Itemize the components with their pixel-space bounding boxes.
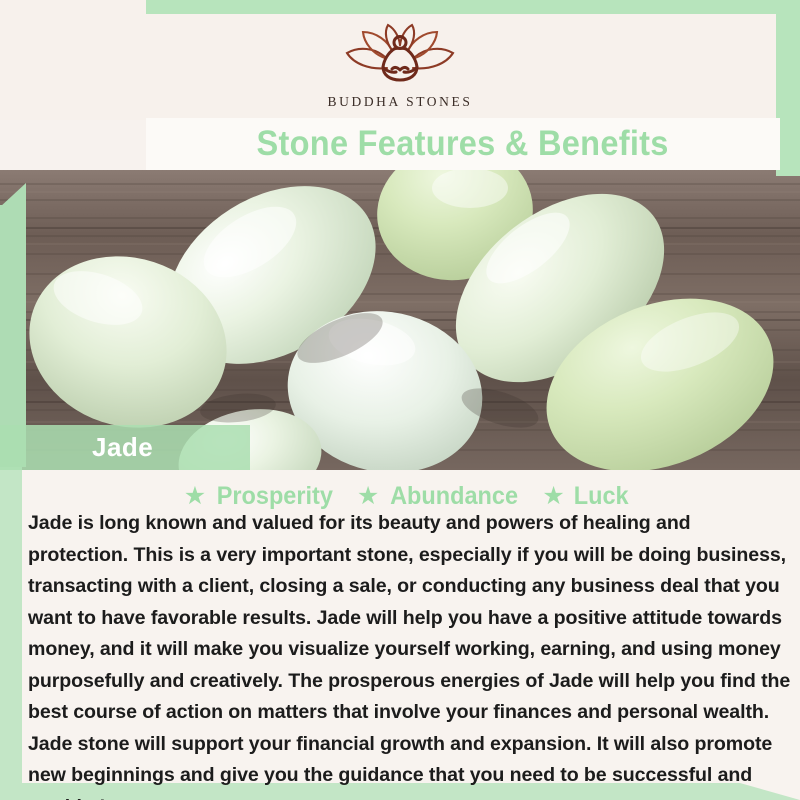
section-title-band: Stone Features & Benefits <box>146 118 780 170</box>
stone-name: Jade <box>92 432 153 463</box>
benefit-item-luck: ★ Luck <box>542 482 630 511</box>
page-title: Stone Features & Benefits <box>257 124 669 164</box>
benefit-label: Prosperity <box>217 482 333 511</box>
stone-name-band: Jade <box>0 425 250 470</box>
lotus-meditation-icon <box>340 22 460 89</box>
frame-left-lower-bar <box>0 467 22 785</box>
infographic-card: BUDDHA STONES Stone Features & Benefits <box>0 0 800 800</box>
benefit-item-prosperity: ★ Prosperity <box>184 482 337 511</box>
star-icon: ★ <box>542 484 564 509</box>
frame-top-bar <box>146 0 800 14</box>
brand-logo: BUDDHA STONES <box>328 22 473 110</box>
brand-header: BUDDHA STONES <box>0 0 800 120</box>
brand-name: BUDDHA STONES <box>328 94 473 110</box>
star-icon: ★ <box>184 484 206 509</box>
stone-description: Jade is long known and valued for its be… <box>22 508 800 800</box>
star-icon: ★ <box>357 484 379 509</box>
description-text: Jade is long known and valued for its be… <box>28 508 796 800</box>
benefit-label: Luck <box>574 482 629 511</box>
benefit-label: Abundance <box>390 482 518 511</box>
benefit-item-abundance: ★ Abundance <box>357 482 523 511</box>
